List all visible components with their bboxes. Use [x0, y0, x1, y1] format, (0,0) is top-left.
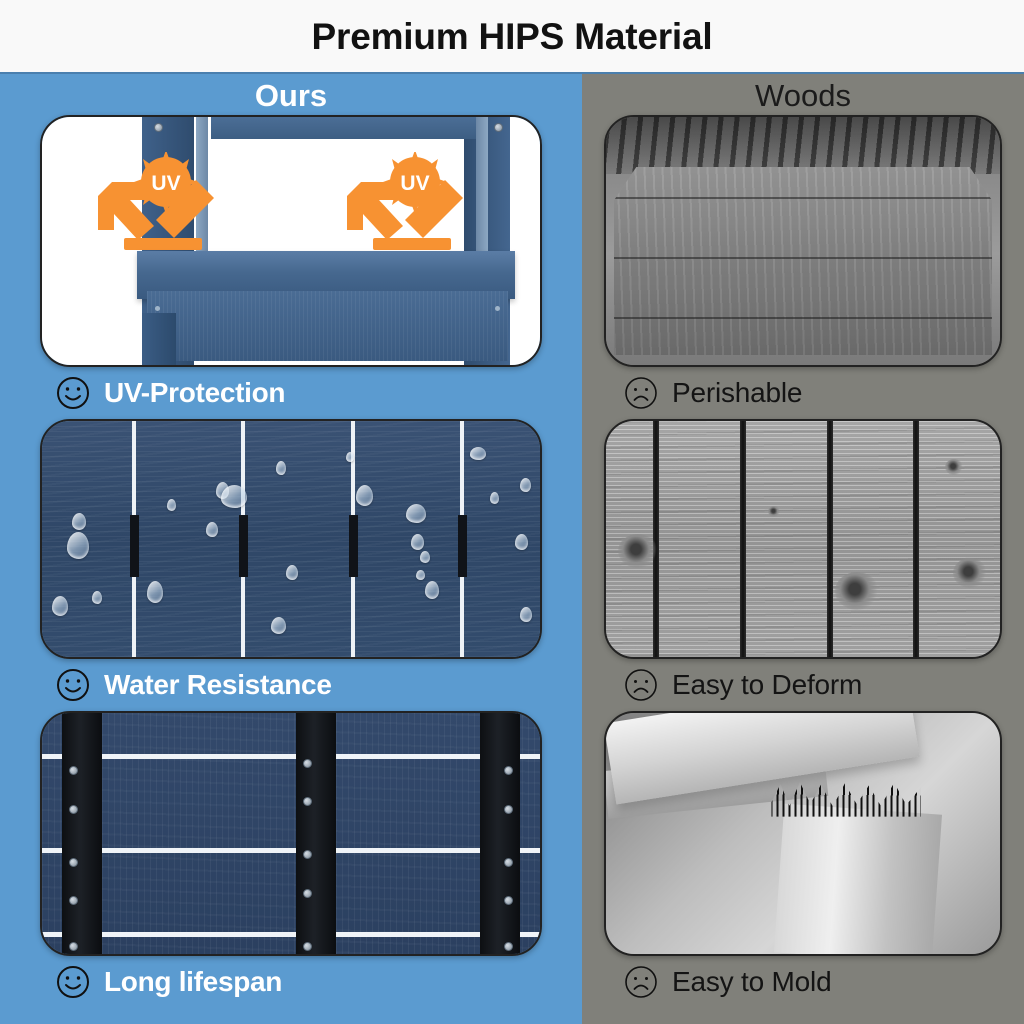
caption-perishable: Perishable [582, 367, 1024, 419]
image-card-uv-protection: UV [40, 115, 542, 367]
image-card-easy-to-deform [604, 419, 1002, 659]
grey-planks-image [606, 421, 1000, 657]
caption-easy-to-deform: Easy to Deform [582, 659, 1024, 711]
caption-long-lifespan: Long lifespan [0, 956, 582, 1008]
weathered-tabletop-image [606, 117, 1000, 365]
sad-face-icon [624, 376, 658, 410]
caption-text: Long lifespan [104, 968, 282, 996]
page-title: Premium HIPS Material [312, 18, 713, 55]
uv-badge-label: UV [151, 172, 180, 195]
image-card-water-resistance [40, 419, 542, 659]
image-card-long-lifespan [40, 711, 542, 956]
sad-face-icon [624, 668, 658, 702]
splintered-joint-image [606, 713, 1000, 954]
comparison-columns: Ours [0, 74, 1024, 1024]
column-heading-ours: Ours [0, 74, 582, 120]
row-2-ours: Water Resistance [0, 419, 582, 711]
row-1-ours: UV [0, 115, 582, 419]
uv-badge-label: UV [400, 172, 429, 195]
header-banner: Premium HIPS Material [0, 0, 1024, 74]
image-card-easy-to-mold [604, 711, 1002, 956]
caption-text: Easy to Deform [672, 671, 862, 699]
row-3-woods: Easy to Mold [582, 711, 1024, 1008]
smiley-face-icon [56, 965, 90, 999]
caption-text: Easy to Mold [672, 968, 831, 996]
caption-uv-protection: UV-Protection [0, 367, 582, 419]
column-heading-woods: Woods [582, 74, 1024, 120]
column-woods: Woods [582, 74, 1024, 1024]
caption-text: Water Resistance [104, 671, 332, 699]
caption-text: UV-Protection [104, 379, 285, 407]
uv-badge-group: UV [42, 152, 540, 266]
blue-bench-image: UV [42, 117, 540, 365]
caption-text: Perishable [672, 379, 802, 407]
navy-planks-rails-image [42, 713, 540, 954]
row-1-woods: Perishable [582, 115, 1024, 419]
caption-easy-to-mold: Easy to Mold [582, 956, 1024, 1008]
smiley-face-icon [56, 668, 90, 702]
sad-face-icon [624, 965, 658, 999]
navy-slats-water-image [42, 421, 540, 657]
row-2-woods: Easy to Deform [582, 419, 1024, 711]
sun-uv-icon: UV [341, 152, 491, 264]
column-ours: Ours [0, 74, 582, 1024]
caption-water-resistance: Water Resistance [0, 659, 582, 711]
row-3-ours: Long lifespan [0, 711, 582, 1008]
comparison-infographic: Premium HIPS Material Ours [0, 0, 1024, 1024]
sun-uv-icon: UV [92, 152, 242, 264]
image-card-perishable [604, 115, 1002, 367]
smiley-face-icon [56, 376, 90, 410]
